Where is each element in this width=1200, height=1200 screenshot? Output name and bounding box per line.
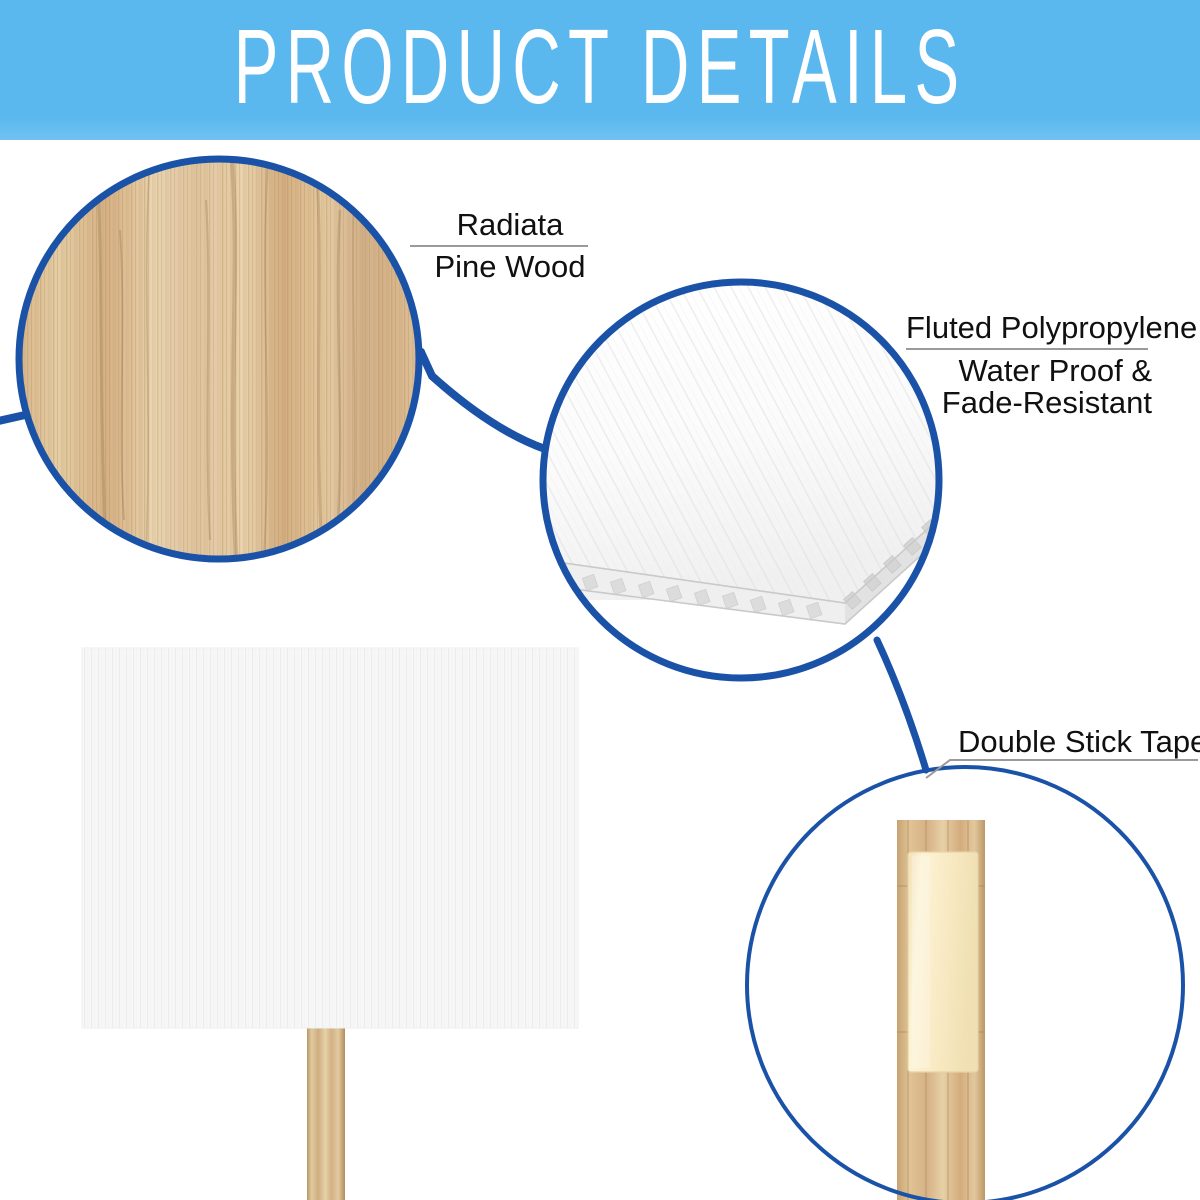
callout-fluted-polypropylene: Fluted Polypropylene Water Proof & Fade-… [906, 312, 1152, 420]
tape-stake-detail[interactable] [747, 767, 1183, 1200]
callout-rule [906, 348, 1148, 350]
infographic-canvas: PRODUCT DETAILS [0, 0, 1200, 1200]
callout-rule [410, 245, 588, 247]
callout-line-1: Radiata [410, 209, 610, 241]
callout-double-stick-tape: Double Stick Tape [958, 726, 1198, 758]
callout-line-3: Fade-Resistant [906, 387, 1152, 419]
callout-line-2: Water Proof & [906, 355, 1152, 387]
fluted-sheet-detail[interactable] [526, 282, 960, 678]
callout-line-1: Double Stick Tape [958, 726, 1198, 758]
callout-radiata-pine-wood: Radiata Pine Wood [410, 209, 610, 283]
callout-line-1: Fluted Polypropylene [906, 312, 1152, 344]
artwork-layer [0, 0, 1200, 1200]
callout-line-2: Pine Wood [410, 251, 610, 283]
yard-sign-with-stake[interactable] [82, 648, 578, 1200]
wood-grain-detail[interactable] [19, 159, 419, 559]
